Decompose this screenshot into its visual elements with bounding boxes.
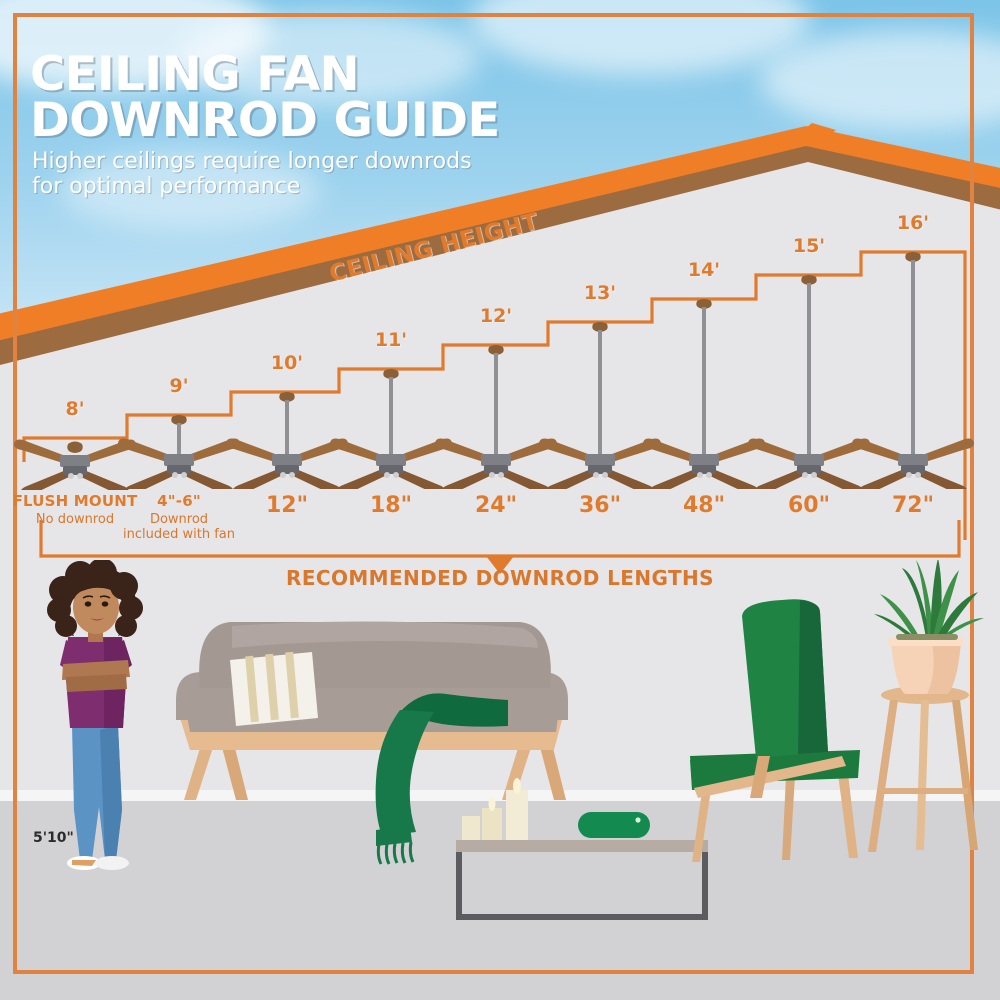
fan-motor-band bbox=[901, 465, 925, 474]
title-block: CEILING FAN DOWNROD GUIDE Higher ceiling… bbox=[30, 52, 550, 199]
fan-light-kit-2 bbox=[181, 472, 187, 478]
table-top bbox=[456, 840, 708, 852]
striped-pillow bbox=[230, 652, 318, 726]
ceiling-height-label-8: 16' bbox=[897, 212, 929, 234]
throw-fringe-strands bbox=[378, 842, 413, 864]
fan-light-kit bbox=[384, 472, 390, 478]
pot-soil bbox=[896, 634, 958, 640]
fan-motor-band bbox=[63, 466, 87, 475]
eye-right bbox=[102, 601, 109, 606]
ceiling-height-label-2: 10' bbox=[271, 352, 303, 374]
candle-group bbox=[462, 778, 528, 840]
hair-curl-8 bbox=[115, 615, 137, 637]
recommended-downrod-heading: RECOMMENDED DOWNROD LENGTHS bbox=[0, 566, 1000, 590]
fan-light-kit-2 bbox=[811, 472, 817, 478]
fan-downrod bbox=[807, 283, 811, 455]
stand-leg-mid bbox=[916, 700, 929, 850]
fan-motor-housing bbox=[481, 454, 511, 466]
candle-tall bbox=[506, 790, 528, 840]
fan-downrod bbox=[702, 307, 706, 455]
fan-downrod bbox=[389, 377, 393, 455]
candle-mid bbox=[482, 808, 502, 840]
stand-leg-left bbox=[868, 700, 898, 852]
stand-brace bbox=[884, 788, 968, 794]
fan-motor-band bbox=[379, 465, 403, 474]
fan-motor-band bbox=[167, 465, 191, 474]
fan-motor-band bbox=[692, 465, 716, 474]
coffee-table bbox=[456, 778, 708, 920]
ceiling-height-label-4: 12' bbox=[480, 305, 512, 327]
flame-mid bbox=[489, 797, 496, 811]
fan-light-kit bbox=[906, 472, 912, 478]
flame-tall bbox=[513, 778, 521, 794]
fan-motor-housing bbox=[689, 454, 719, 466]
fan-light-kit bbox=[68, 473, 74, 479]
subtitle-line-1: Higher ceilings require longer downrods bbox=[32, 150, 550, 175]
wooden-plant-stand bbox=[868, 686, 978, 852]
candle-short bbox=[462, 816, 480, 840]
shoe-right bbox=[95, 856, 129, 870]
fan-downrod bbox=[598, 330, 602, 455]
ceiling-fan-16ft bbox=[851, 252, 975, 332]
title-line-2: DOWNROD GUIDE bbox=[30, 98, 560, 144]
ceiling-height-label-1: 9' bbox=[169, 375, 188, 397]
fan-motor-band bbox=[275, 465, 299, 474]
fan-light-kit-2 bbox=[498, 472, 504, 478]
person-height-label: 5'10" bbox=[33, 830, 74, 846]
fan-light-kit-2 bbox=[602, 472, 608, 478]
table-frame-right bbox=[702, 852, 708, 920]
fan-light-kit bbox=[489, 472, 495, 478]
fan-graphic bbox=[117, 415, 241, 489]
fan-motor-housing bbox=[376, 454, 406, 466]
fan-motor-housing bbox=[898, 454, 928, 466]
fan-light-kit bbox=[593, 472, 599, 478]
fan-motor-band bbox=[797, 465, 821, 474]
fan-downrod bbox=[911, 260, 915, 455]
fan-canopy bbox=[67, 442, 82, 454]
arm-lower bbox=[66, 674, 127, 692]
downrod-label-8: 72" bbox=[833, 494, 993, 517]
fan-downrod bbox=[285, 400, 289, 455]
infographic-canvas: 8'9'10'11'12'13'14'15'16' FLUSH MOUNTNo … bbox=[0, 0, 1000, 1000]
fan-light-kit bbox=[802, 472, 808, 478]
green-book bbox=[578, 812, 650, 838]
woman-figure bbox=[47, 560, 143, 870]
fan-motor-housing bbox=[164, 454, 194, 466]
page-subtitle: Higher ceilings require longer downrods … bbox=[32, 150, 550, 199]
fan-light-kit bbox=[697, 472, 703, 478]
page-title: CEILING FAN DOWNROD GUIDE bbox=[30, 52, 560, 143]
ceiling-height-label-6: 14' bbox=[688, 259, 720, 281]
fan-light-kit-2 bbox=[915, 472, 921, 478]
hair-curl-7 bbox=[55, 615, 77, 637]
downrod-length-value: 72" bbox=[833, 494, 993, 517]
fan-light-kit-2 bbox=[77, 473, 83, 479]
ceiling-height-label-3: 11' bbox=[375, 329, 407, 351]
fan-graphic bbox=[851, 252, 975, 489]
table-frame-bottom bbox=[456, 914, 708, 920]
ceiling-height-label-5: 13' bbox=[584, 282, 616, 304]
ceiling-fan-9ft bbox=[117, 415, 241, 495]
fan-light-kit bbox=[172, 472, 178, 478]
fan-downrod bbox=[177, 423, 181, 455]
fan-motor-housing bbox=[60, 455, 90, 467]
chair-leg-2 bbox=[782, 776, 795, 860]
subtitle-line-2: for optimal performance bbox=[32, 175, 550, 200]
fan-downrod bbox=[494, 353, 498, 455]
eye-left bbox=[85, 601, 92, 606]
fan-motor-housing bbox=[585, 454, 615, 466]
ceiling-height-label-0: 8' bbox=[65, 398, 84, 420]
ceiling-height-label-7: 15' bbox=[793, 235, 825, 257]
book-dot bbox=[635, 817, 640, 822]
fan-light-kit-2 bbox=[289, 472, 295, 478]
chair-leg-3 bbox=[838, 774, 858, 858]
chair-back-shade bbox=[798, 600, 828, 754]
fan-motor-band bbox=[484, 465, 508, 474]
room-scene bbox=[0, 560, 1000, 1000]
table-frame-left bbox=[456, 852, 462, 920]
green-lounge-chair bbox=[690, 599, 860, 862]
fan-light-kit-2 bbox=[393, 472, 399, 478]
fan-light-kit bbox=[280, 472, 286, 478]
shoe-accent-left bbox=[72, 860, 96, 866]
fan-motor-housing bbox=[794, 454, 824, 466]
fan-motor-housing bbox=[272, 454, 302, 466]
fan-light-kit-2 bbox=[706, 472, 712, 478]
fan-motor-band bbox=[588, 465, 612, 474]
stand-leg-right bbox=[952, 700, 978, 850]
